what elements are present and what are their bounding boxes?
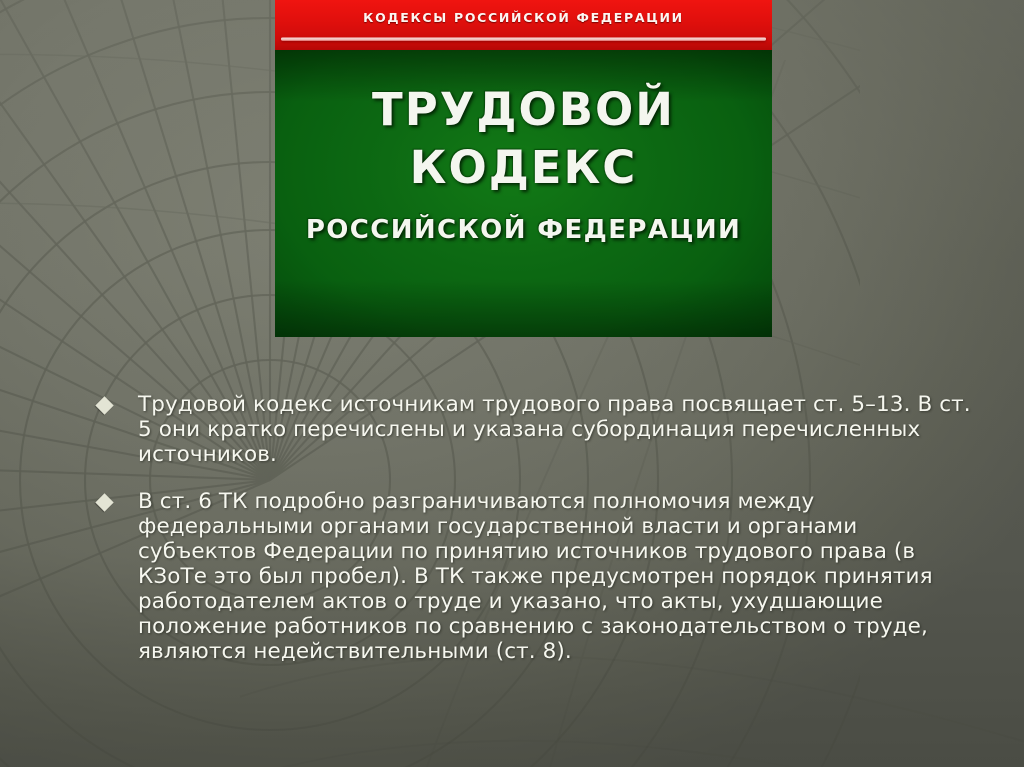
book-cover-image: КОДЕКСЫ РОССИЙСКОЙ ФЕДЕРАЦИИ ТРУДОВОЙ КО… xyxy=(275,0,772,337)
book-cover-red-band: КОДЕКСЫ РОССИЙСКОЙ ФЕДЕРАЦИИ xyxy=(275,0,772,50)
bullet-item: Трудовой кодекс источникам трудового пра… xyxy=(98,392,978,467)
diamond-bullet-icon xyxy=(95,396,113,414)
presentation-slide: КОДЕКСЫ РОССИЙСКОЙ ФЕДЕРАЦИИ ТРУДОВОЙ КО… xyxy=(0,0,1024,767)
bullet-item: В ст. 6 ТК подробно разграничиваются пол… xyxy=(98,489,978,664)
book-cover-series-label: КОДЕКСЫ РОССИЙСКОЙ ФЕДЕРАЦИИ xyxy=(275,10,772,25)
book-cover-white-rule xyxy=(281,37,766,41)
slide-body-content: Трудовой кодекс источникам трудового пра… xyxy=(98,392,978,686)
book-title-line-3: РОССИЙСКОЙ ФЕДЕРАЦИИ xyxy=(275,214,772,246)
book-title-line-1: ТРУДОВОЙ xyxy=(275,84,772,136)
book-title-line-2: КОДЕКС xyxy=(275,140,772,196)
diamond-bullet-icon xyxy=(95,493,113,511)
book-cover-title-block: ТРУДОВОЙ КОДЕКС РОССИЙСКОЙ ФЕДЕРАЦИИ xyxy=(275,84,772,246)
book-cover-green-field: ТРУДОВОЙ КОДЕКС РОССИЙСКОЙ ФЕДЕРАЦИИ xyxy=(275,50,772,337)
bullet-paragraph: В ст. 6 ТК подробно разграничиваются пол… xyxy=(138,489,978,664)
bullet-paragraph: Трудовой кодекс источникам трудового пра… xyxy=(138,392,978,467)
